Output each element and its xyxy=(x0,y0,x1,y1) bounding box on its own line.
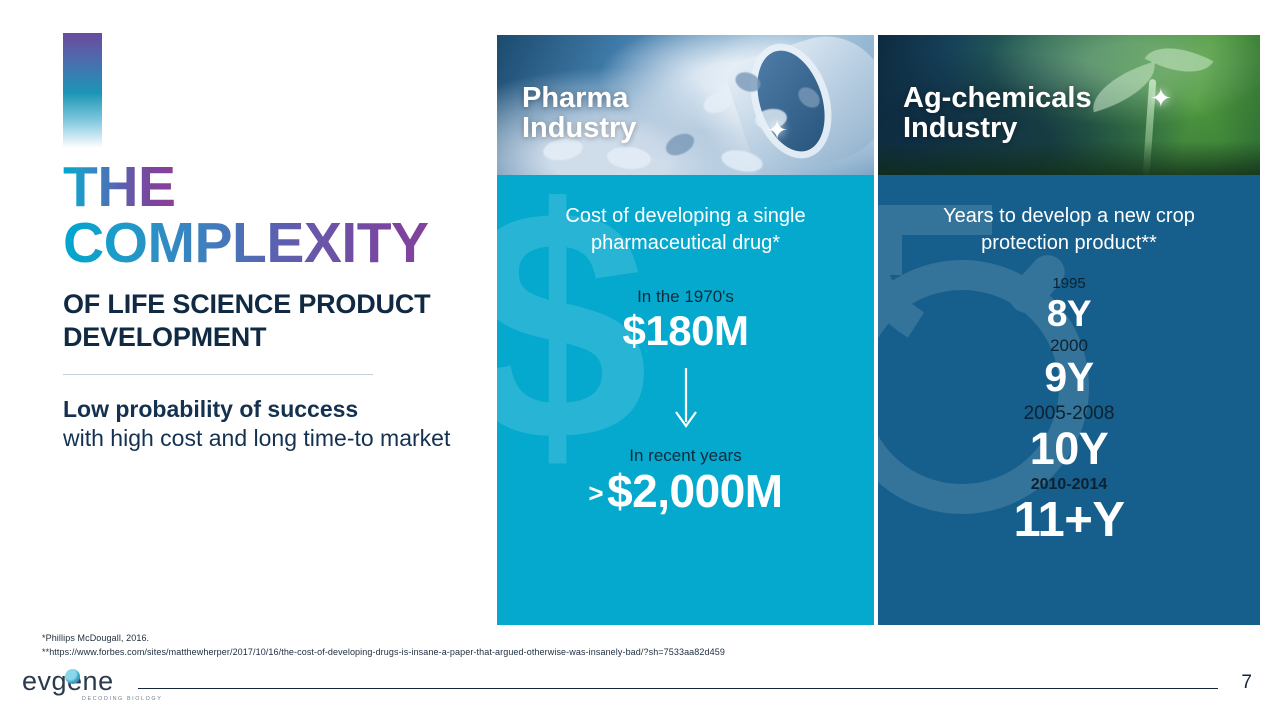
sparkle-icon: ✦ xyxy=(1150,85,1172,111)
ag-stat-row: 1995 8Y xyxy=(878,275,1260,333)
pharma-stats: In the 1970's $180M In recent years >$2,… xyxy=(497,287,874,518)
ag-caption: Years to develop a new crop protection p… xyxy=(878,203,1260,257)
pharma-stat-value: $2,000M xyxy=(607,465,783,517)
page-number: 7 xyxy=(1241,672,1252,694)
ag-heading-line-1: Ag-chemicals xyxy=(903,83,1092,113)
lead-rest-text: with high cost and long time-to market xyxy=(63,425,450,451)
ag-panel-heading: Ag-chemicals Industry xyxy=(903,83,1092,144)
pharma-caption: Cost of developing a single pharmaceutic… xyxy=(497,203,874,257)
sparkle-icon: ✦ xyxy=(766,117,788,143)
pharma-stat-value: $180M xyxy=(497,307,874,354)
ag-stat-value: 9Y xyxy=(878,356,1260,399)
ag-panel-body: Years to develop a new crop protection p… xyxy=(878,175,1260,625)
pharma-stat-label: In recent years xyxy=(497,446,874,466)
pill-graphic xyxy=(606,145,652,171)
footer-rule xyxy=(138,688,1218,689)
ag-stat-row: 2010-2014 11+Y xyxy=(878,475,1260,547)
footnote-primary: *Phillips McDougall, 2016. xyxy=(42,632,725,646)
ag-stat-row: 2000 9Y xyxy=(878,335,1260,400)
ag-stat-label: 2010-2014 xyxy=(878,475,1260,495)
page-title: THE COMPLEXITY xyxy=(63,160,483,272)
pill-graphic xyxy=(662,129,697,159)
soil-graphic xyxy=(878,141,1260,175)
pharma-panel-body: $ Cost of developing a single pharmaceut… xyxy=(497,175,874,625)
ag-heading-line-2: Industry xyxy=(903,113,1092,143)
ag-photo-header: ✦ Ag-chemicals Industry xyxy=(878,35,1260,175)
ag-stat-value: 8Y xyxy=(878,294,1260,333)
ag-stat-label: 2005-2008 xyxy=(878,402,1260,426)
pharma-panel-heading: Pharma Industry xyxy=(522,83,636,144)
ag-stat-row: 2005-2008 10Y xyxy=(878,402,1260,473)
pharma-stat-value-wrap: >$2,000M xyxy=(497,466,874,518)
down-arrow-icon xyxy=(497,366,874,432)
pharma-stat-row: In recent years >$2,000M xyxy=(497,446,874,518)
decorative-accent-bar xyxy=(63,33,102,148)
ag-stats: 1995 8Y 2000 9Y 2005-2008 10Y 2010-2014 … xyxy=(878,275,1260,547)
title-line-1: THE xyxy=(63,160,176,216)
lead-paragraph: Low probability of success with high cos… xyxy=(63,395,483,453)
ag-stat-label: 1995 xyxy=(878,275,1260,294)
greater-than-symbol: > xyxy=(588,478,603,508)
ag-stat-label: 2000 xyxy=(878,335,1260,356)
logo-dot-icon xyxy=(65,669,80,684)
logo-tagline: DECODING BIOLOGY xyxy=(82,696,172,702)
footnotes: *Phillips McDougall, 2016. **https://www… xyxy=(42,632,725,660)
panel-ag-chemicals: ✦ Ag-chemicals Industry Years to develop… xyxy=(878,35,1260,625)
title-subtitle: OF LIFE SCIENCE PRODUCT DEVELOPMENT xyxy=(63,288,483,354)
lead-bold-text: Low probability of success xyxy=(63,395,483,424)
pharma-stat-row: In the 1970's $180M xyxy=(497,287,874,354)
footnote-secondary: **https://www.forbes.com/sites/matthewhe… xyxy=(42,646,725,660)
title-block: THE COMPLEXITY OF LIFE SCIENCE PRODUCT D… xyxy=(63,160,483,453)
panel-pharma: ✦ Pharma Industry $ Cost of developing a… xyxy=(497,35,874,625)
logo-wordmark: evgene xyxy=(22,668,172,695)
pharma-photo-header: ✦ Pharma Industry xyxy=(497,35,874,175)
ag-stat-value: 11+Y xyxy=(878,495,1260,547)
pharma-heading-line-2: Industry xyxy=(522,113,636,143)
pharma-stat-label: In the 1970's xyxy=(497,287,874,307)
title-divider xyxy=(63,374,373,375)
pharma-heading-line-1: Pharma xyxy=(522,83,636,113)
title-line-2: COMPLEXITY xyxy=(63,216,483,272)
ag-stat-value: 10Y xyxy=(878,425,1260,473)
